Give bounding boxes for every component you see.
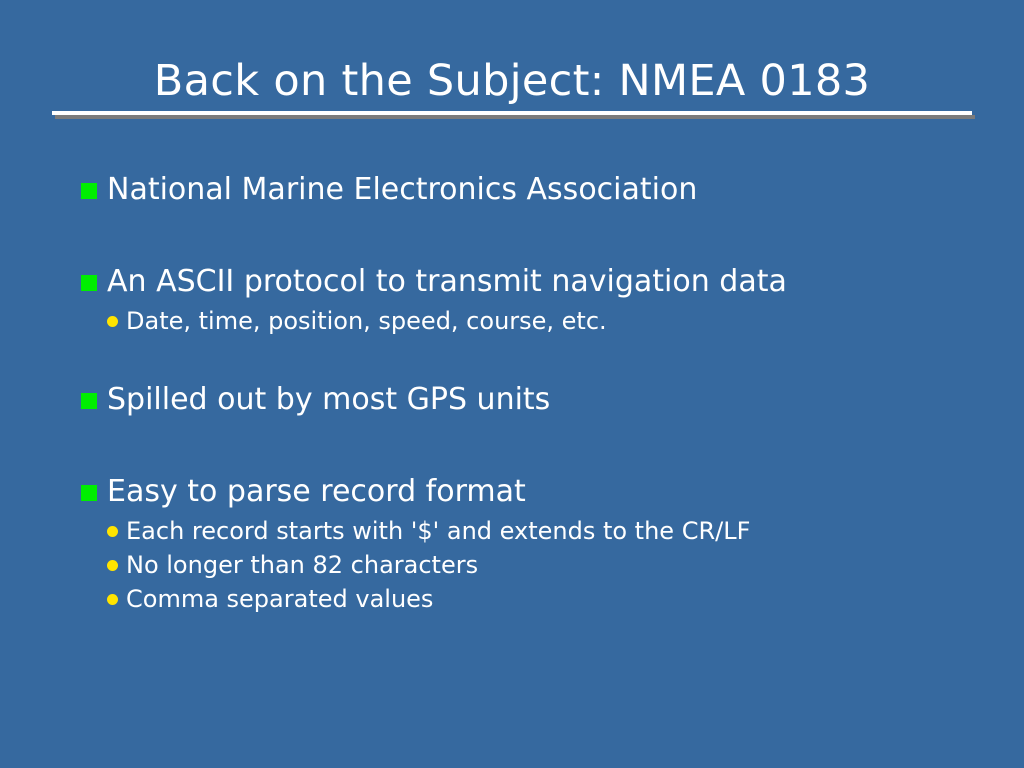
yellow-dot-bullet-icon <box>107 594 118 605</box>
sub-list-item: Date, time, position, speed, course, etc… <box>0 304 1024 338</box>
list-item: An ASCII protocol to transmit navigation… <box>0 260 1024 304</box>
yellow-dot-bullet-icon <box>107 316 118 327</box>
title-divider-rule-shadow <box>55 115 975 119</box>
list-item-label: An ASCII protocol to transmit navigation… <box>107 260 1024 304</box>
list-item: Spilled out by most GPS units <box>0 378 1024 422</box>
sub-list-item-label: Date, time, position, speed, course, etc… <box>126 304 1024 338</box>
list-item-label: Easy to parse record format <box>107 470 1024 514</box>
list-item-label: Spilled out by most GPS units <box>107 378 1024 422</box>
green-square-bullet-icon <box>81 275 97 291</box>
spacer <box>0 338 1024 378</box>
bullet-list: National Marine Electronics Association … <box>0 168 1024 616</box>
sub-list-item-label: Comma separated values <box>126 582 1024 616</box>
green-square-bullet-icon <box>81 183 97 199</box>
green-square-bullet-icon <box>81 485 97 501</box>
spacer <box>0 212 1024 260</box>
sub-list-item: Each record starts with '$' and extends … <box>0 514 1024 548</box>
presentation-slide: Back on the Subject: NMEA 0183 National … <box>0 0 1024 768</box>
yellow-dot-bullet-icon <box>107 526 118 537</box>
page-title: Back on the Subject: NMEA 0183 <box>52 52 972 110</box>
sub-list-item-label: Each record starts with '$' and extends … <box>126 514 1024 548</box>
green-square-bullet-icon <box>81 393 97 409</box>
yellow-dot-bullet-icon <box>107 560 118 571</box>
spacer <box>0 422 1024 470</box>
list-item: National Marine Electronics Association <box>0 168 1024 212</box>
sub-list-item: Comma separated values <box>0 582 1024 616</box>
list-item-label: National Marine Electronics Association <box>107 168 1024 212</box>
sub-list-item-label: No longer than 82 characters <box>126 548 1024 582</box>
sub-list-item: No longer than 82 characters <box>0 548 1024 582</box>
list-item: Easy to parse record format <box>0 470 1024 514</box>
